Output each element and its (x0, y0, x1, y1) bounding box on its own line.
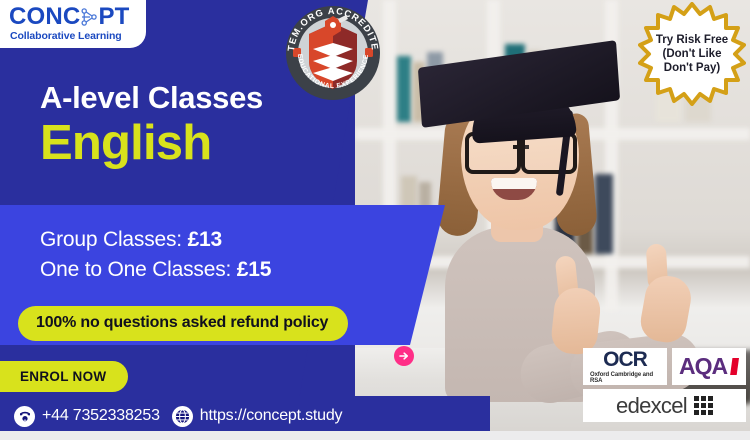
exam-board-row: edexcel (583, 389, 746, 422)
bottom-edge-strip (0, 431, 750, 440)
phone-contact[interactable]: +44 7352338253 (14, 406, 160, 427)
arrow-right-circle-icon[interactable] (394, 346, 414, 366)
price-row: Group Classes: £13 (40, 225, 271, 255)
ocr-subtitle: Oxford Cambridge and RSA (590, 372, 660, 384)
promo-banner: CONC PT Collaborative Learning (0, 0, 750, 440)
edexcel-wordmark: edexcel (616, 395, 687, 417)
burst-line-1: Try Risk Free (656, 33, 728, 47)
network-node-icon (81, 7, 97, 27)
aqa-wordmark: AQA (679, 355, 727, 378)
exam-board-row: OCR Oxford Cambridge and RSA AQA (583, 348, 746, 385)
page-title-eyebrow: A-level Classes (40, 82, 263, 115)
enrol-now-button[interactable]: ENROL NOW (0, 361, 128, 392)
refund-policy-badge: 100% no questions asked refund policy (18, 306, 348, 341)
globe-icon (172, 406, 193, 427)
aqa-mark-icon (730, 358, 739, 375)
phone-number: +44 7352338253 (42, 407, 160, 425)
burst-text: Try Risk Free (Don't Like Don't Pay) (638, 2, 746, 106)
nine-square-grid-icon (694, 396, 713, 415)
telephone-icon (14, 406, 35, 427)
burst-line-2: (Don't Like (663, 47, 722, 61)
price-value: £15 (237, 258, 271, 281)
burst-line-3: Don't Pay) (664, 61, 720, 75)
website-url: https://concept.study (200, 407, 343, 425)
ocr-logo: OCR Oxford Cambridge and RSA (583, 348, 667, 385)
page-title-subject: English (40, 119, 263, 169)
headline-block: A-level Classes English (40, 82, 263, 169)
girl-teeth (491, 178, 537, 189)
price-label: One to One Classes: (40, 258, 231, 281)
brand-logo[interactable]: CONC PT Collaborative Learning (0, 0, 146, 48)
pricing-block: Group Classes: £13 One to One Classes: £… (40, 225, 271, 286)
contact-bar: +44 7352338253 https://concept.study (0, 401, 342, 431)
price-row: One to One Classes: £15 (40, 255, 271, 285)
logo-tagline: Collaborative Learning (10, 30, 122, 42)
aqa-logo: AQA (672, 348, 746, 385)
logo-word-part1: CONC (9, 5, 80, 29)
logo-wordmark: CONC PT (9, 5, 130, 29)
price-label: Group Classes: (40, 228, 182, 251)
edexcel-logo: edexcel (583, 389, 746, 422)
risk-free-burst: Try Risk Free (Don't Like Don't Pay) (638, 2, 746, 106)
website-contact[interactable]: https://concept.study (172, 406, 343, 427)
stem-org-accredited-seal-icon: STEM.ORG ACCREDITED EDUCATIONAL EXPERIEN… (283, 3, 383, 103)
ocr-wordmark: OCR (603, 349, 647, 370)
price-value: £13 (188, 228, 222, 251)
logo-word-part2: PT (98, 5, 129, 29)
exam-board-logos: OCR Oxford Cambridge and RSA AQA edexcel (583, 348, 746, 426)
